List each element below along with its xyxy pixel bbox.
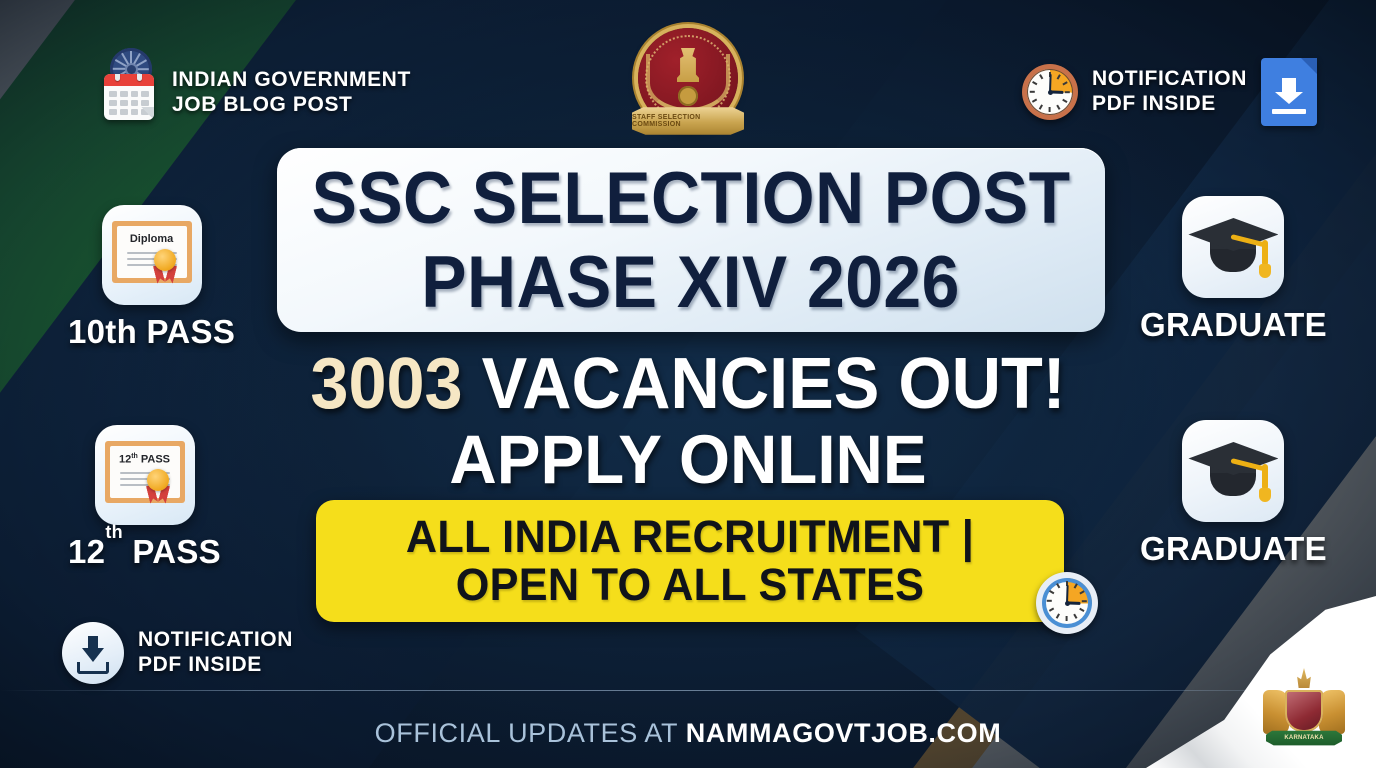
award-rosette-icon <box>154 249 176 271</box>
emblem-scroll: KARNATAKA <box>1266 729 1342 746</box>
footer-website: NAMMAGOVTJOB.COM <box>686 718 1002 748</box>
notification-text-bottom: NOTIFICATION PDF INSIDE <box>138 628 293 678</box>
notification-line2-bottom: PDF INSIDE <box>138 653 293 678</box>
award-rosette-icon <box>147 469 169 491</box>
all-india-recruitment-banner: ALL INDIA RECRUITMENT | OPEN TO ALL STAT… <box>316 500 1064 622</box>
shield-icon <box>1285 690 1323 732</box>
notification-pdf-badge-bottom[interactable]: NOTIFICATION PDF INSIDE <box>62 622 293 684</box>
graduation-cap-icon <box>1182 420 1284 522</box>
calendar-body <box>104 74 154 120</box>
karnataka-state-emblem: KARNATAKA <box>1262 664 1346 752</box>
seal-chakra-icon <box>678 86 698 106</box>
ssc-emblem: STAFF SELECTION COMMISSION <box>632 28 744 140</box>
footer-prefix: OFFICIAL UPDATES AT <box>375 718 686 748</box>
crown-icon <box>1295 668 1313 688</box>
emblem-scroll-text: KARNATAKA <box>1266 729 1342 746</box>
eligibility-badge-12th: 12th PASS 12th PASS <box>68 425 221 571</box>
diploma-cert-title: Diploma <box>117 233 187 245</box>
ssc-ribbon-text: STAFF SELECTION COMMISSION <box>632 106 744 136</box>
footer-credit: OFFICIAL UPDATES AT NAMMAGOVTJOB.COM <box>0 718 1376 749</box>
blog-brand-text: INDIAN GOVERNMENT JOB BLOG POST <box>172 68 411 118</box>
blog-brand-line1: INDIAN GOVERNMENT <box>172 68 411 93</box>
eligibility-badge-10th: Diploma 10th PASS <box>68 205 235 351</box>
notification-line1-top: NOTIFICATION <box>1092 67 1247 92</box>
promotional-banner: INDIAN GOVERNMENT JOB BLOG POST NOTIFICA… <box>0 0 1376 768</box>
pdf-download-icon[interactable] <box>1261 58 1317 126</box>
notification-line1-bottom: NOTIFICATION <box>138 628 293 653</box>
notification-line2-top: PDF INSIDE <box>1092 92 1247 117</box>
clock-icon <box>1022 64 1078 120</box>
banner-line1: ALL INDIA RECRUITMENT | <box>406 513 974 561</box>
cert-title-12th: 12th PASS <box>110 453 180 466</box>
banner-line2: OPEN TO ALL STATES <box>456 561 924 609</box>
eligibility-caption-12th: 12th PASS <box>68 533 221 571</box>
blog-brand-line2: JOB BLOG POST <box>172 93 411 118</box>
certificate-icon: 12th PASS <box>95 425 195 525</box>
download-icon[interactable] <box>62 622 124 684</box>
notification-text-top: NOTIFICATION PDF INSIDE <box>1092 67 1247 117</box>
eligibility-caption-graduate-2: GRADUATE <box>1140 530 1327 568</box>
eligibility-badge-graduate-1: GRADUATE <box>1140 196 1327 344</box>
notification-pdf-badge-top: NOTIFICATION PDF INSIDE <box>1022 58 1317 126</box>
ssc-ribbon: STAFF SELECTION COMMISSION <box>632 106 744 136</box>
vacancy-headline: 3003 VACANCIES OUT! <box>34 348 1341 420</box>
title-card: SSC SELECTION POST PHASE XIV 2026 <box>277 148 1105 332</box>
eligibility-caption-10th: 10th PASS <box>68 313 235 351</box>
blog-brand-badge: INDIAN GOVERNMENT JOB BLOG POST <box>96 62 411 124</box>
calendar-icon <box>96 62 158 124</box>
graduation-cap-icon <box>1182 196 1284 298</box>
title-line1: SSC SELECTION POST <box>311 162 1070 235</box>
vacancy-count: 3003 <box>310 344 462 424</box>
title-line2: PHASE XIV 2026 <box>422 246 961 319</box>
clock-icon-banner <box>1036 572 1098 634</box>
eligibility-badge-graduate-2: GRADUATE <box>1140 420 1327 568</box>
footer-divider <box>0 690 1376 691</box>
vacancy-suffix: VACANCIES OUT! <box>463 344 1066 424</box>
diploma-certificate-icon: Diploma <box>102 205 202 305</box>
eligibility-caption-graduate-1: GRADUATE <box>1140 306 1327 344</box>
